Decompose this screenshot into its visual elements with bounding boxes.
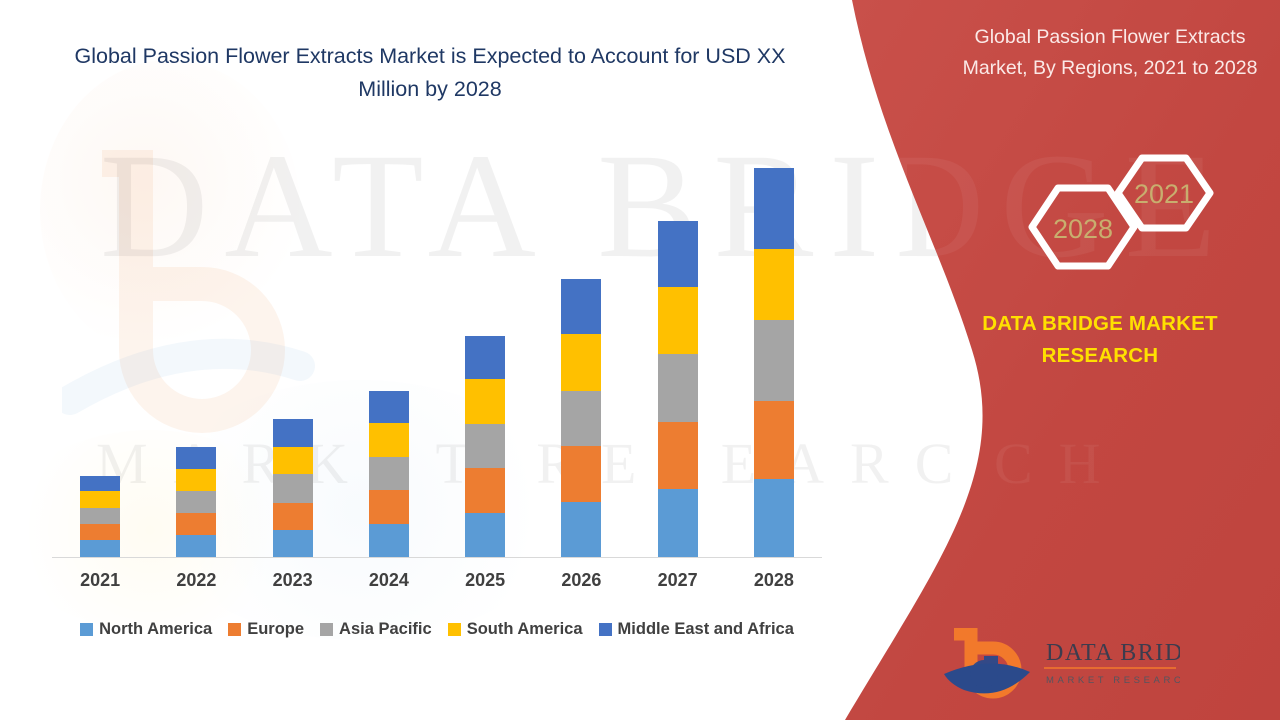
x-axis-label-2022: 2022 [156,570,236,591]
bar-segment[interactable] [754,479,794,557]
legend-label: North America [99,620,212,639]
bar-stack-2026[interactable] [561,279,601,557]
chart-title: Global Passion Flower Extracts Market is… [60,40,800,106]
legend-swatch-icon [320,623,333,636]
x-axis-label-2024: 2024 [349,570,429,591]
legend-label: Europe [247,620,304,639]
legend-label: Asia Pacific [339,620,432,639]
bar-segment[interactable] [176,491,216,513]
bar-segment[interactable] [465,379,505,424]
bar-segment[interactable] [369,490,409,523]
bar-segment[interactable] [658,489,698,557]
bar-segment[interactable] [176,447,216,469]
data-bridge-logo: DATA BRIDGE MARKET RESEARCH [940,628,1180,700]
bar-segment[interactable] [561,334,601,390]
legend-swatch-icon [228,623,241,636]
bar-segment[interactable] [273,447,313,474]
legend-swatch-icon [599,623,612,636]
x-axis-line [52,557,822,558]
bar-segment[interactable] [80,524,120,541]
bar-stack-2028[interactable] [754,168,794,557]
logo-secondary-text: MARKET RESEARCH [1046,675,1180,686]
bar-segment[interactable] [754,249,794,320]
bar-segment[interactable] [80,476,120,492]
bar-segment[interactable] [176,469,216,491]
bar-segment[interactable] [561,446,601,501]
infographic-canvas: DATA BRIDGE MARKET RESEARCH Global Passi… [0,0,1280,720]
bar-segment[interactable] [465,513,505,557]
brand-name-text: DATA BRIDGE MARKET RESEARCH [930,308,1270,372]
bar-segment[interactable] [369,524,409,557]
bar-segment[interactable] [273,503,313,530]
hex-badge-2028: 2028 [1032,188,1134,266]
logo-primary-text: DATA BRIDGE [1046,640,1180,666]
chart-plot-area [52,140,822,558]
x-axis-label-2021: 2021 [60,570,140,591]
bar-segment[interactable] [658,354,698,422]
legend-label: Middle East and Africa [618,620,794,639]
hex-badge-group: 2021 2028 [970,150,1270,290]
x-axis-labels: 20212022202320242025202620272028 [52,570,822,600]
chart-legend: North AmericaEuropeAsia PacificSouth Ame… [52,615,822,643]
x-axis-label-2027: 2027 [638,570,718,591]
x-axis-label-2023: 2023 [253,570,333,591]
bar-stack-2022[interactable] [176,447,216,557]
x-axis-label-2028: 2028 [734,570,814,591]
legend-item[interactable]: Europe [228,620,304,639]
bar-segment[interactable] [754,168,794,248]
bar-segment[interactable] [658,287,698,354]
legend-item[interactable]: North America [80,620,212,639]
bar-segment[interactable] [80,491,120,508]
bar-stack-2024[interactable] [369,391,409,557]
red-panel-content: IDGE EARCH Global Passion Flower Extract… [820,0,1280,720]
bar-segment[interactable] [369,423,409,456]
hex-badge-2021-label: 2021 [1134,179,1194,209]
hex-badge-2028-label: 2028 [1053,214,1113,244]
bar-segment[interactable] [80,540,120,557]
data-bridge-logo-icon: DATA BRIDGE MARKET RESEARCH [940,628,1180,700]
x-axis-label-2025: 2025 [445,570,525,591]
bar-stack-2023[interactable] [273,419,313,557]
legend-item[interactable]: Asia Pacific [320,620,432,639]
legend-item[interactable]: Middle East and Africa [599,620,794,639]
bar-segment[interactable] [273,419,313,447]
hex-badges-svg: 2021 2028 [970,150,1270,290]
bar-segment[interactable] [561,391,601,446]
bar-segment[interactable] [369,457,409,490]
bar-segment[interactable] [465,336,505,380]
bar-stack-2027[interactable] [658,221,698,557]
bar-segment[interactable] [465,468,505,513]
legend-item[interactable]: South America [448,620,583,639]
bar-segment[interactable] [658,422,698,489]
bar-segment[interactable] [273,474,313,502]
legend-swatch-icon [80,623,93,636]
bar-segment[interactable] [465,424,505,468]
bar-segment[interactable] [176,513,216,535]
bar-stack-2025[interactable] [465,336,505,557]
bar-segment[interactable] [561,502,601,557]
legend-label: South America [467,620,583,639]
bar-segment[interactable] [273,530,313,557]
bar-segment[interactable] [369,391,409,423]
ghost-watermark-text-2: EARCH [800,430,1127,497]
x-axis-label-2026: 2026 [541,570,621,591]
panel-title: Global Passion Flower Extracts Market, B… [950,22,1270,84]
bar-segment[interactable] [176,535,216,557]
bar-segment[interactable] [561,279,601,334]
bar-segment[interactable] [754,401,794,478]
bar-segment[interactable] [754,320,794,402]
bar-segment[interactable] [80,508,120,524]
bar-segment[interactable] [658,221,698,288]
legend-swatch-icon [448,623,461,636]
bar-stack-2021[interactable] [80,476,120,558]
